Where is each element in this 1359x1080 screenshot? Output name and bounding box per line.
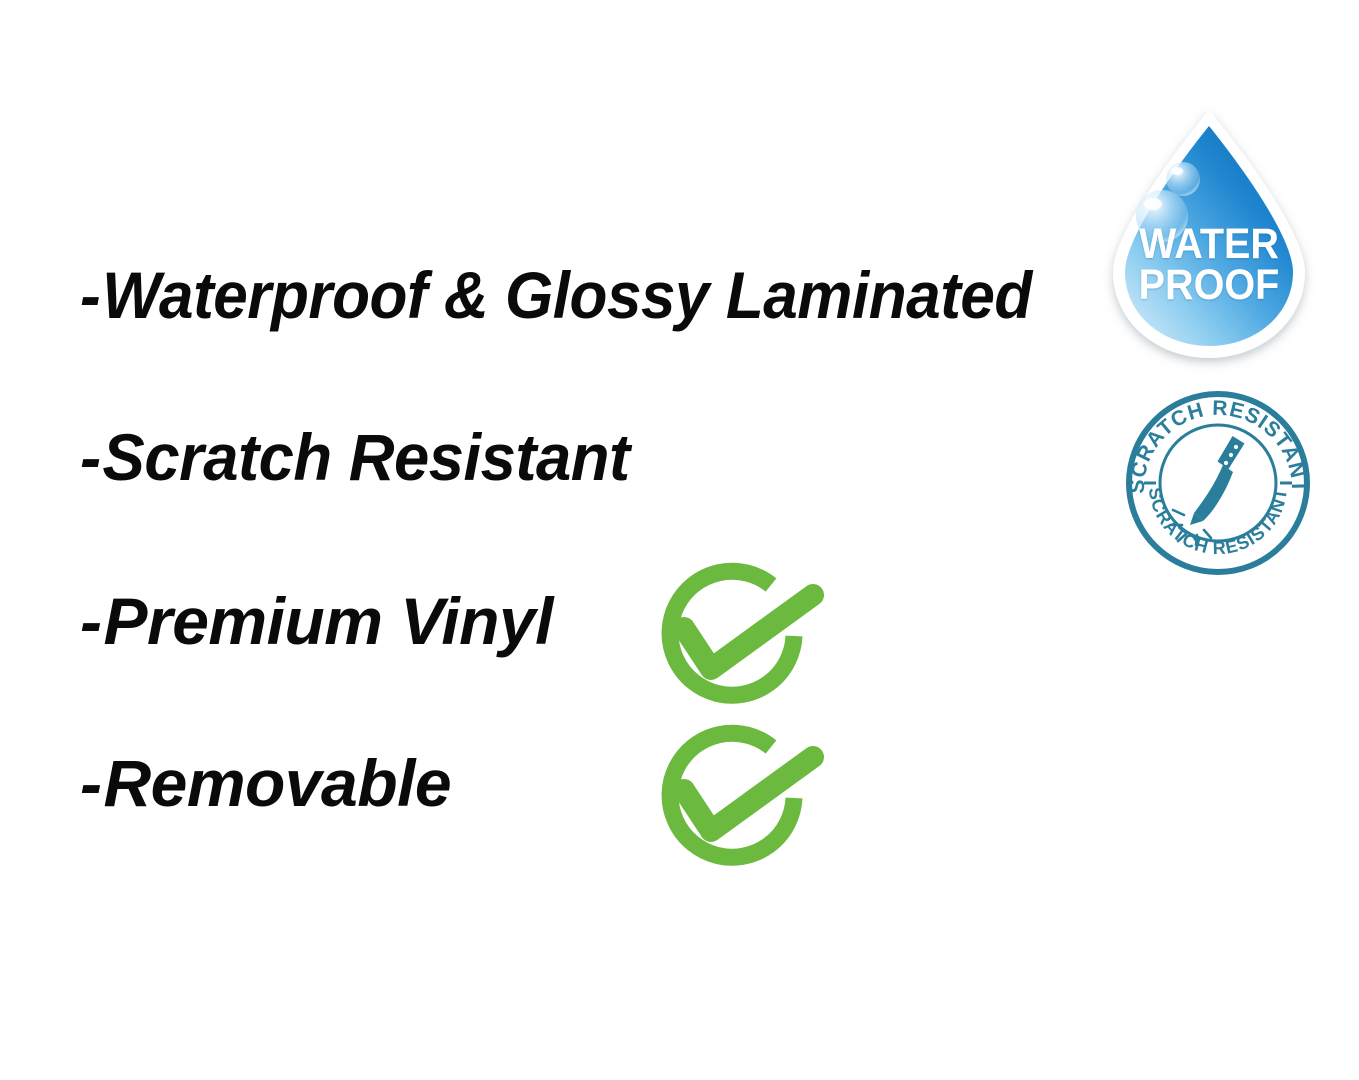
- bubble-small-highlight: [1171, 167, 1183, 175]
- bubble-small-icon: [1166, 162, 1200, 196]
- knife-rivet: [1234, 445, 1238, 449]
- feature-item-premium-vinyl: - Premium Vinyl: [80, 588, 553, 654]
- scratch-resistant-badge: SCRATCH RESISTANT SCRATCH RESISTANT: [1124, 389, 1312, 577]
- waterproof-badge: WATER PROOF: [1103, 106, 1315, 364]
- checkmark-premium-vinyl: [641, 556, 839, 716]
- product-feature-graphic: - Waterproof & Glossy Laminated - Scratc…: [0, 0, 1359, 1080]
- feature-label: Scratch Resistant: [103, 424, 630, 490]
- feature-item-removable: - Removable: [80, 750, 451, 816]
- check-circle-icon: [641, 556, 839, 716]
- feature-label: Waterproof & Glossy Laminated: [102, 262, 1032, 328]
- knife-handle: [1218, 436, 1245, 469]
- waterproof-label: WATER PROOF: [1111, 224, 1306, 306]
- checkmark-removable: [641, 718, 839, 878]
- bullet-dash: -: [80, 262, 100, 328]
- knife-rivet: [1224, 461, 1228, 465]
- feature-label: Removable: [103, 750, 451, 816]
- feature-item-waterproof: - Waterproof & Glossy Laminated: [80, 262, 1032, 328]
- feature-label: Premium Vinyl: [103, 588, 553, 654]
- bullet-dash: -: [80, 750, 101, 816]
- knife-stamp-icon: SCRATCH RESISTANT SCRATCH RESISTANT: [1124, 389, 1312, 577]
- check-circle-icon: [641, 718, 839, 878]
- bubble-large-highlight: [1144, 198, 1162, 210]
- bullet-dash: -: [80, 588, 101, 654]
- bullet-dash: -: [80, 424, 101, 490]
- knife-rivet: [1229, 453, 1233, 457]
- knife-blade: [1194, 465, 1233, 521]
- feature-list: - Waterproof & Glossy Laminated - Scratc…: [0, 0, 1100, 1080]
- feature-item-scratch-resistant: - Scratch Resistant: [80, 424, 630, 490]
- waterproof-label-line2: PROOF: [1111, 265, 1306, 306]
